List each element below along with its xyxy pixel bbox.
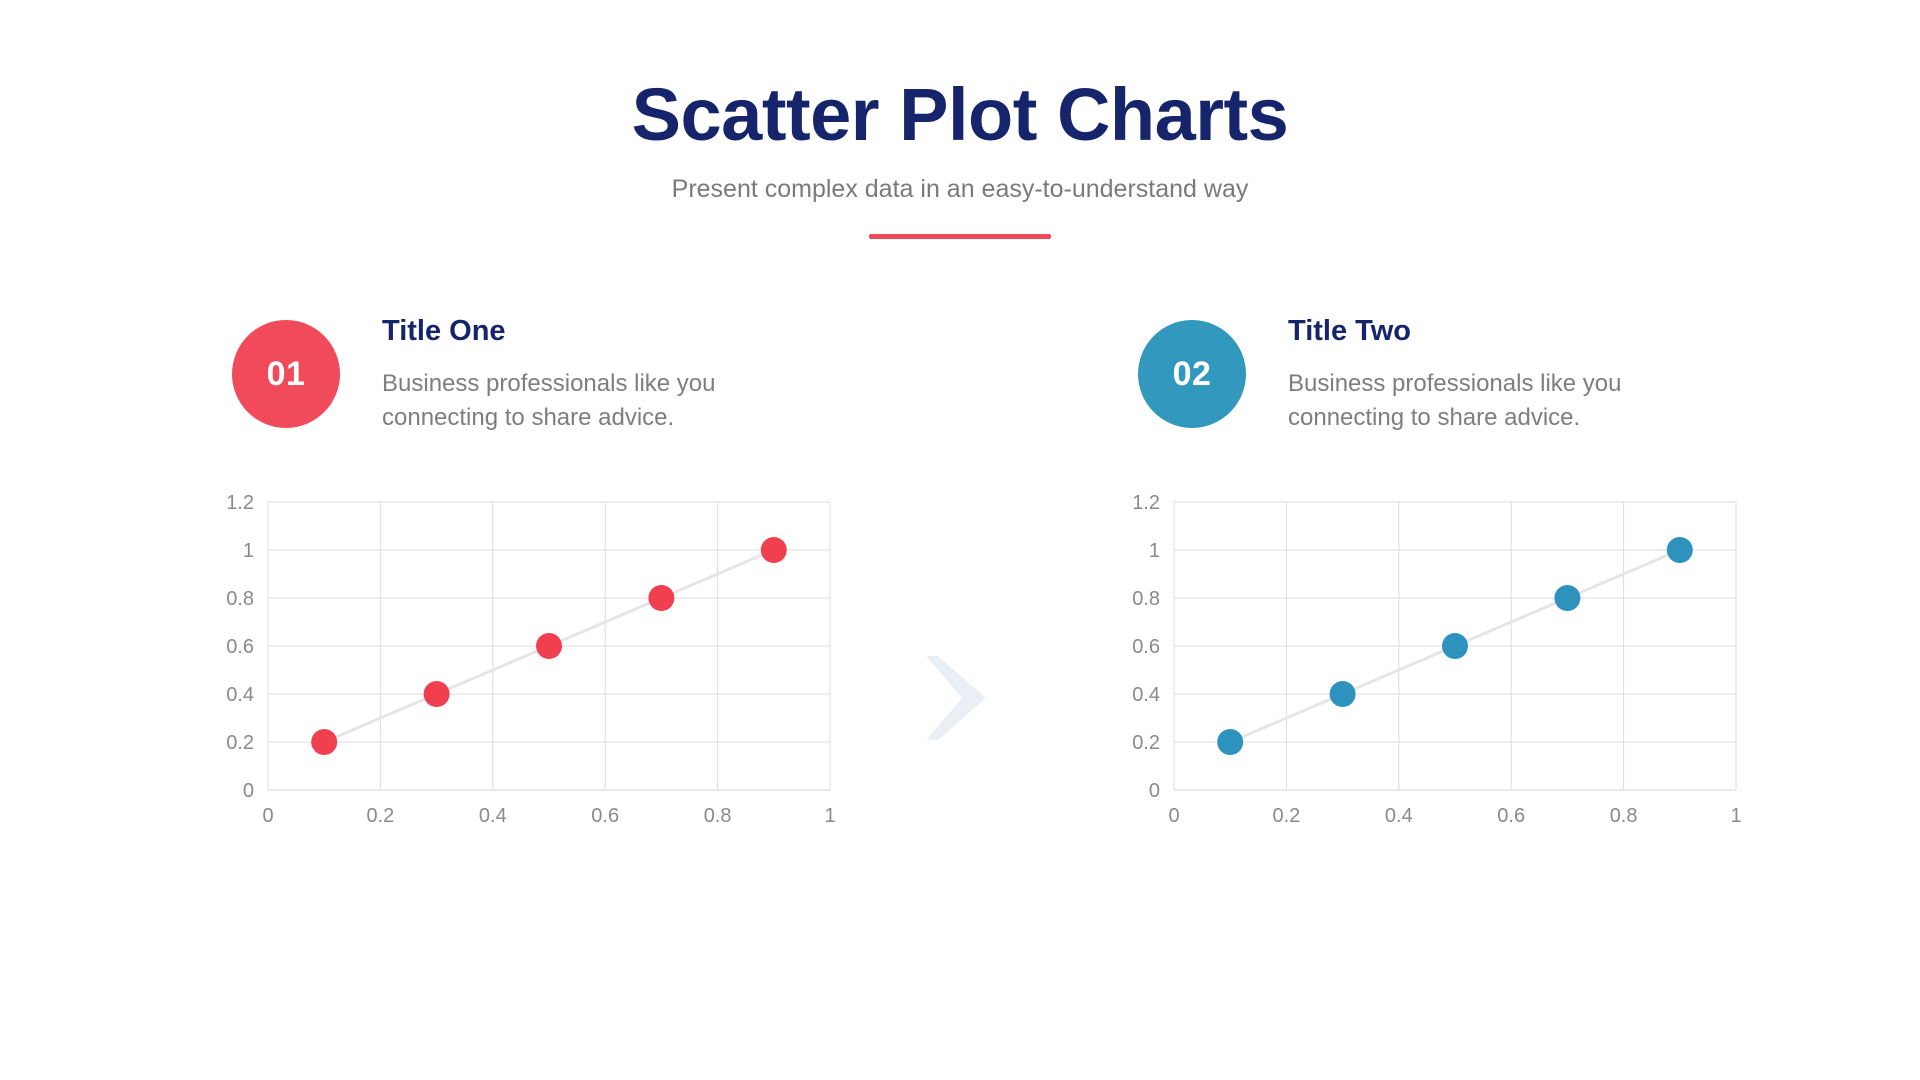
data-point-marker (424, 681, 450, 707)
panel-one-text: Title One Business professionals like yo… (382, 300, 802, 435)
x-axis-tick-label: 0.2 (1272, 805, 1300, 827)
data-point-marker (1554, 585, 1580, 611)
x-axis-tick-label: 0.8 (704, 805, 732, 827)
panel-two-header: 02 Title Two Business professionals like… (1138, 300, 1708, 435)
y-axis-tick-label: 0.2 (1132, 732, 1160, 754)
scatter-chart-two: 00.20.40.60.811.200.20.40.60.81 (1118, 488, 1758, 848)
panel-two: 02 Title Two Business professionals like… (1138, 300, 1708, 435)
x-axis-tick-label: 0.8 (1610, 805, 1638, 827)
data-point-marker (311, 729, 337, 755)
data-point-marker (648, 585, 674, 611)
x-axis-tick-label: 0.4 (479, 805, 507, 827)
data-point-marker (1330, 681, 1356, 707)
data-point-marker (536, 633, 562, 659)
y-axis-tick-label: 1.2 (1132, 492, 1160, 514)
badge-one-label: 01 (267, 355, 306, 394)
data-point-marker (1667, 537, 1693, 563)
data-point-marker (761, 537, 787, 563)
x-axis-tick-label: 0.4 (1385, 805, 1413, 827)
y-axis-tick-label: 0.8 (226, 588, 254, 610)
scatter-chart-one-svg: 00.20.40.60.811.200.20.40.60.81 (212, 488, 852, 848)
x-axis-tick-label: 0.2 (366, 805, 394, 827)
panel-two-description: Business professionals like you connecti… (1288, 349, 1708, 435)
x-axis-tick-label: 1 (824, 805, 835, 827)
title-divider (869, 234, 1051, 239)
panel-two-title: Title Two (1288, 314, 1708, 349)
y-axis-tick-label: 0.4 (1132, 684, 1160, 706)
y-axis-tick-label: 1 (243, 540, 254, 562)
data-point-marker (1217, 729, 1243, 755)
y-axis-tick-label: 0.6 (1132, 636, 1160, 658)
page-header: Scatter Plot Charts Present complex data… (0, 0, 1920, 239)
y-axis-tick-label: 0.2 (226, 732, 254, 754)
scatter-chart-two-svg: 00.20.40.60.811.200.20.40.60.81 (1118, 488, 1758, 848)
x-axis-tick-label: 0.6 (1497, 805, 1525, 827)
badge-number-01: 01 (232, 320, 340, 428)
chevron-right-glyph (918, 650, 998, 746)
y-axis-tick-label: 0.4 (226, 684, 254, 706)
badge-two-label: 02 (1173, 355, 1212, 394)
y-axis-tick-label: 0.8 (1132, 588, 1160, 610)
badge-number-02: 02 (1138, 320, 1246, 428)
data-point-marker (1442, 633, 1468, 659)
panel-one-title: Title One (382, 314, 802, 349)
panel-one-header: 01 Title One Business professionals like… (232, 300, 802, 435)
y-axis-tick-label: 1 (1149, 540, 1160, 562)
page-subtitle: Present complex data in an easy-to-under… (0, 152, 1920, 204)
panel-one: 01 Title One Business professionals like… (232, 300, 802, 435)
y-axis-tick-label: 0 (1149, 780, 1160, 802)
scatter-chart-one: 00.20.40.60.811.200.20.40.60.81 (212, 488, 852, 848)
x-axis-tick-label: 0 (262, 805, 273, 827)
y-axis-tick-label: 0 (243, 780, 254, 802)
panel-two-text: Title Two Business professionals like yo… (1288, 300, 1708, 435)
chevron-right-icon (918, 650, 998, 751)
panel-one-description: Business professionals like you connecti… (382, 349, 802, 435)
x-axis-tick-label: 0.6 (591, 805, 619, 827)
x-axis-tick-label: 1 (1730, 805, 1741, 827)
y-axis-tick-label: 0.6 (226, 636, 254, 658)
y-axis-tick-label: 1.2 (226, 492, 254, 514)
x-axis-tick-label: 0 (1168, 805, 1179, 827)
page-title: Scatter Plot Charts (0, 0, 1920, 152)
